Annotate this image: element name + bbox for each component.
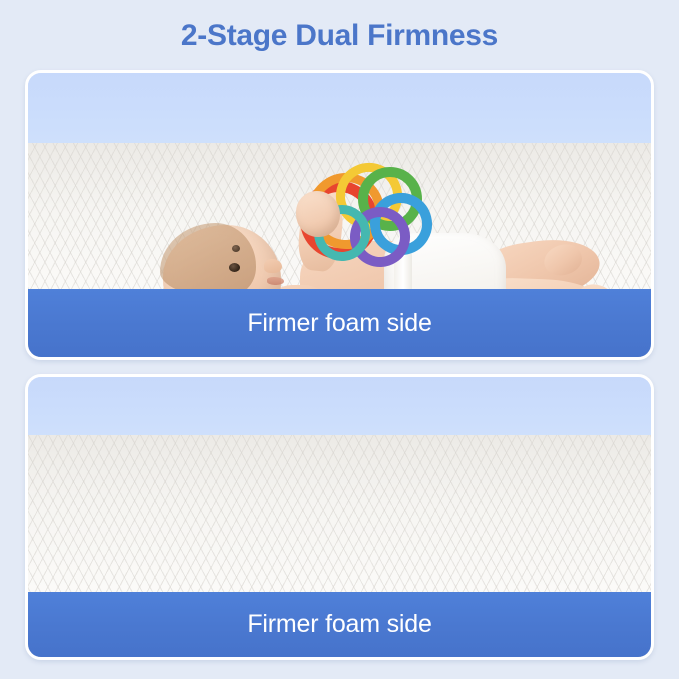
- label-text-bottom: Firmer foam side: [247, 610, 431, 639]
- baby-eye: [229, 263, 240, 272]
- baby-nose: [264, 259, 282, 273]
- baby-mouth: [267, 277, 284, 285]
- baby-fist: [296, 191, 340, 237]
- baby-eyebrow: [232, 245, 240, 252]
- page-title: 2-Stage Dual Firmness: [0, 16, 679, 56]
- panel-firmer-foam-top: Firmer foam side: [25, 70, 654, 360]
- label-text-top: Firmer foam side: [247, 309, 431, 338]
- panel-firmer-foam-bottom: Firmer foam side: [25, 374, 654, 660]
- backdrop-wall: [28, 73, 651, 147]
- backdrop-wall: [28, 377, 651, 439]
- label-bar-top: Firmer foam side: [28, 289, 651, 357]
- label-bar-bottom: Firmer foam side: [28, 592, 651, 657]
